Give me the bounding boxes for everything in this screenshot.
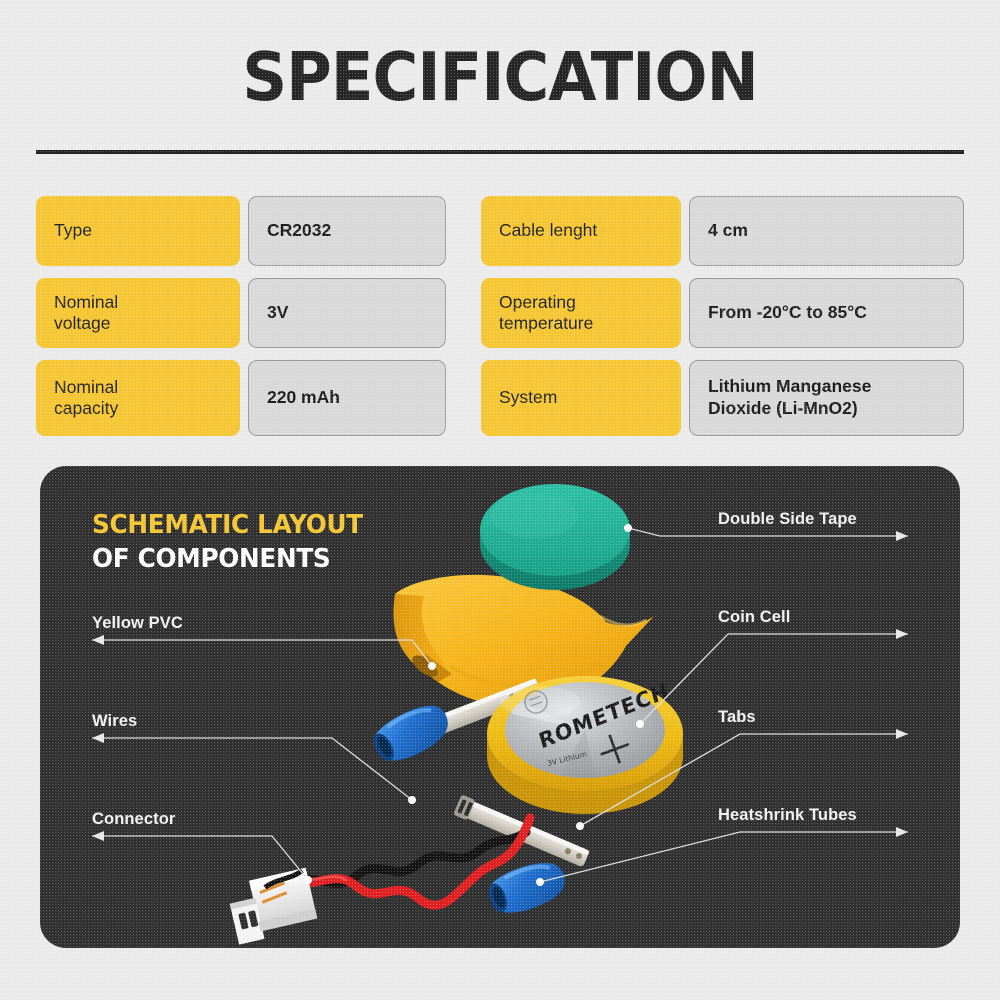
spec-table-right-column: Cable lenght 4 cm Operating temperature … — [481, 196, 964, 448]
spec-value: 220 mAh — [248, 360, 446, 436]
callout-yellow-pvc: Yellow PVC — [92, 614, 183, 633]
heatshrink-tube-part-upper — [367, 696, 456, 770]
coin-cell-part: ROMETECH 3V Lithium — [487, 676, 683, 814]
table-row: Nominal capacity 220 mAh — [36, 360, 446, 436]
connector-part — [226, 868, 319, 945]
callout-heatshrink-tubes: Heatshrink Tubes — [718, 806, 857, 825]
table-row: System Lithium Manganese Dioxide (Li-MnO… — [481, 360, 964, 436]
spec-value: 3V — [248, 278, 446, 348]
spec-value: From -20°C to 85°C — [689, 278, 964, 348]
table-row: Type CR2032 — [36, 196, 446, 266]
schematic-heading-line1: SCHEMATIC LAYOUT — [92, 508, 363, 542]
spec-label: Nominal capacity — [36, 360, 240, 436]
callout-coin-cell: Coin Cell — [718, 608, 790, 627]
callout-wires: Wires — [92, 712, 137, 731]
table-row: Operating temperature From -20°C to 85°C — [481, 278, 964, 348]
spec-label: Operating temperature — [481, 278, 681, 348]
title-divider — [36, 150, 964, 154]
spec-label: Nominal voltage — [36, 278, 240, 348]
callout-connector: Connector — [92, 810, 175, 829]
spec-value: CR2032 — [248, 196, 446, 266]
callout-tabs: Tabs — [718, 708, 756, 727]
double-side-tape-part — [480, 484, 630, 590]
page-title: SPECIFICATION — [35, 44, 965, 111]
table-row: Nominal voltage 3V — [36, 278, 446, 348]
schematic-panel: ROMETECH 3V Lithium — [40, 466, 960, 948]
spec-value: Lithium Manganese Dioxide (Li-MnO2) — [689, 360, 964, 436]
spec-label: Cable lenght — [481, 196, 681, 266]
spec-label: System — [481, 360, 681, 436]
spec-value: 4 cm — [689, 196, 964, 266]
schematic-heading-line2: OF COMPONENTS — [92, 542, 363, 576]
spec-label: Type — [36, 196, 240, 266]
callout-double-side-tape: Double Side Tape — [718, 510, 857, 529]
table-row: Cable lenght 4 cm — [481, 196, 964, 266]
spec-table-left-column: Type CR2032 Nominal voltage 3V Nominal c… — [36, 196, 446, 448]
schematic-heading: SCHEMATIC LAYOUT OF COMPONENTS — [92, 508, 363, 577]
